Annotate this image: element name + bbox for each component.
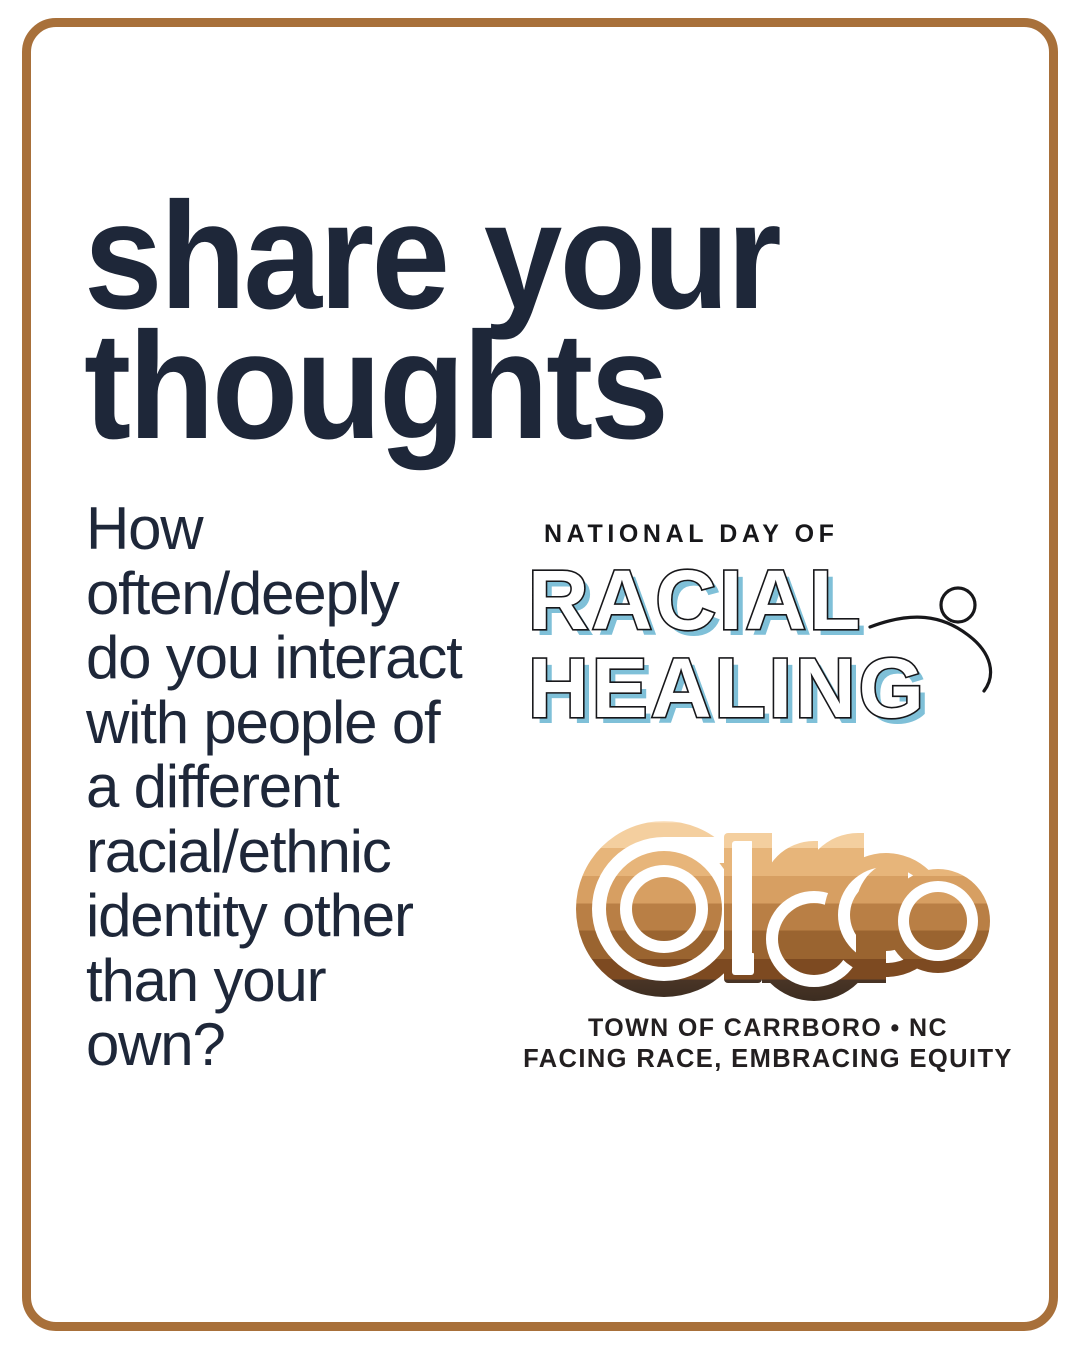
prompt-question: How often/deeply do you interact with pe… bbox=[86, 497, 466, 1078]
carrboro-wordmark bbox=[556, 797, 996, 1002]
headline-line-1: share your bbox=[84, 196, 902, 318]
carrboro-tagline-line-1: TOWN OF CARRBORO • NC bbox=[518, 1014, 1018, 1044]
poster-canvas: share your thoughts How often/deeply do … bbox=[0, 0, 1080, 1350]
carrboro-tagline-line-2: FACING RACE, EMBRACING EQUITY bbox=[518, 1044, 1018, 1074]
ndrh-word-racial: RACIAL bbox=[528, 555, 863, 647]
national-day-of-racial-healing-logo: NATIONAL DAY OF .ndrh-blue { font-family… bbox=[522, 520, 1022, 733]
carrboro-tagline: TOWN OF CARRBORO • NC FACING RACE, EMBRA… bbox=[518, 1014, 1018, 1074]
headline-line-2: thoughts bbox=[84, 326, 902, 448]
ndrh-eyebrow-text: NATIONAL DAY OF bbox=[544, 520, 1022, 549]
town-of-carrboro-logo: TOWN OF CARRBORO • NC FACING RACE, EMBRA… bbox=[518, 797, 1018, 1074]
ndrh-word-healing: HEALING bbox=[528, 641, 927, 733]
logo-column: NATIONAL DAY OF .ndrh-blue { font-family… bbox=[500, 520, 1040, 1074]
ndrh-wordmark: .ndrh-blue { font-family: "Liberation Sa… bbox=[522, 555, 1022, 733]
carrboro-wordmark-shape bbox=[556, 797, 996, 1002]
page-title: share your thoughts bbox=[84, 196, 964, 447]
